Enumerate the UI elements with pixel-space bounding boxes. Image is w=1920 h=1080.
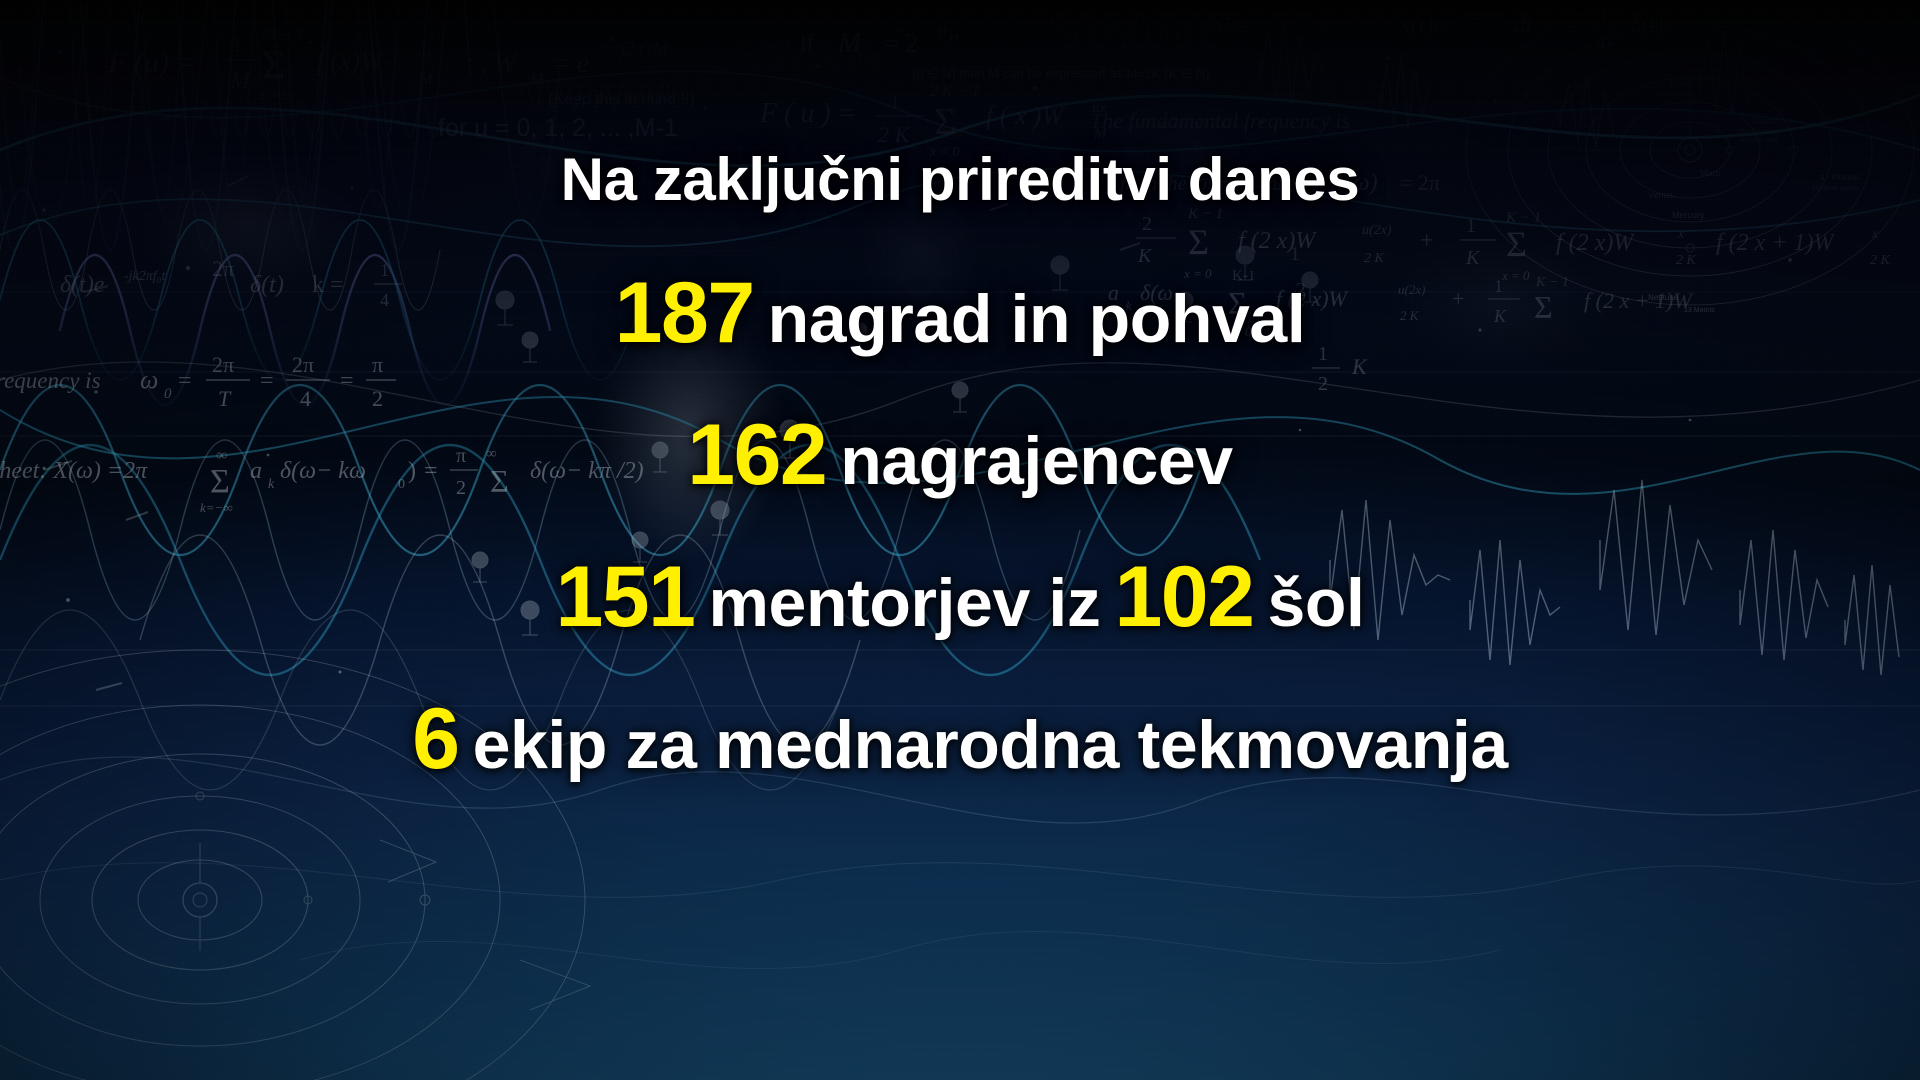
stat-number-winners: 162 [687,407,826,503]
stat-label-mentors: mentorjev iz [708,565,1100,641]
stat-line-awards: 187nagrad in pohval [615,270,1306,356]
stat-number-awards: 187 [615,265,754,361]
stat-line-winners: 162nagrajencev [687,412,1232,498]
stat-label-winners: nagrajencev [840,423,1232,499]
stat-line-mentors: 151mentorjev iz102šol [555,554,1364,640]
stat-number-mentors: 151 [555,549,694,645]
presentation-slide: F (u) = 1 M M − 1 Σ x = 0 f (x)W ux M , … [0,0,1920,1080]
slide-title: Na zaključni prireditvi danes [561,150,1360,210]
stat-label-schools: šol [1267,565,1364,641]
stat-number-schools: 102 [1114,549,1253,645]
stat-label-awards: nagrad in pohval [768,281,1306,357]
stat-label-teams: ekip za mednarodna tekmovanja [473,707,1508,783]
stat-number-teams: 6 [412,691,458,787]
stat-line-teams: 6ekip za mednarodna tekmovanja [412,696,1508,782]
slide-content: Na zaključni prireditvi danes 187nagrad … [0,0,1920,1080]
